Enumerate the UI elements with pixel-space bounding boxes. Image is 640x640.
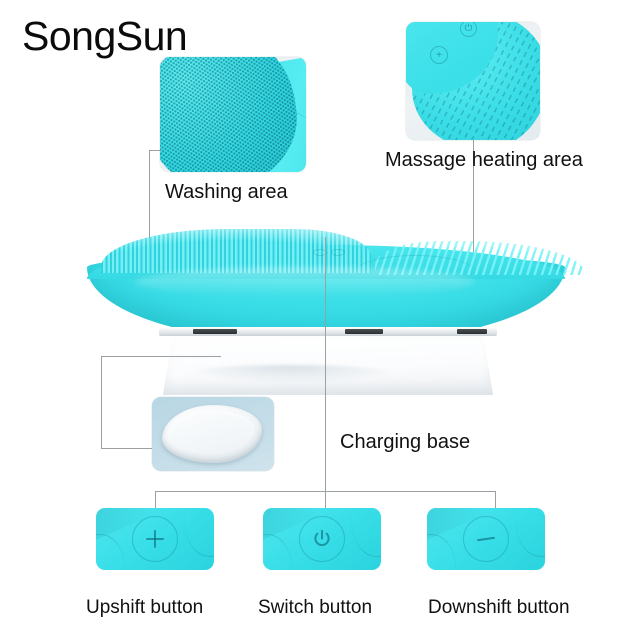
charging-base-label: Charging base: [340, 432, 470, 452]
wave-line-decor: [263, 529, 298, 570]
leader-line-base-bottom: [101, 448, 159, 449]
leader-line-washing-horizontal: [149, 150, 161, 151]
wave-line-decor: [179, 512, 214, 560]
charging-base-slot: [345, 329, 383, 334]
wave-line-decor: [96, 529, 131, 570]
massage-heating-area-label: Massage heating area: [385, 150, 583, 170]
washing-area-label: Washing area: [165, 182, 288, 202]
washing-area-thumbnail: ⏻ +: [160, 57, 306, 172]
upshift-button-label: Upshift button: [86, 598, 203, 617]
charging-base-thumbnail-image: [152, 397, 274, 471]
leader-line-buttons-stem: [325, 237, 326, 491]
switch-button-label: Switch button: [258, 598, 372, 617]
washing-area-thumbnail-image: ⏻ +: [160, 57, 306, 172]
switch-button-card[interactable]: [263, 508, 381, 570]
charging-pod-icon: [162, 405, 262, 463]
wave-line-decor: [346, 512, 381, 560]
brand-logo-text: SongSun: [22, 16, 187, 57]
downshift-button-card[interactable]: [427, 508, 545, 570]
silicone-dots-texture: [160, 57, 306, 172]
charging-base-thumbnail: [152, 397, 274, 471]
leader-line-upshift-drop: [155, 491, 156, 509]
charging-base-highlight: [185, 365, 395, 383]
leader-line-base-top: [101, 356, 221, 357]
minus-icon: [477, 530, 495, 548]
control-dot-icon: [331, 249, 345, 256]
body-gloss-highlight: [135, 267, 475, 297]
upshift-button-ring[interactable]: [132, 516, 178, 562]
infographic-canvas: SongSun ⏻ + Washing area + ⏻: [0, 0, 640, 640]
wave-line-decor: [427, 529, 462, 570]
leader-line-base-vertical: [101, 356, 102, 448]
plus-icon: [146, 530, 164, 548]
plus-icon-small: +: [430, 46, 448, 64]
switch-button-ring[interactable]: [299, 516, 345, 562]
power-icon: [311, 528, 333, 550]
downshift-button-label: Downshift button: [428, 598, 570, 617]
charging-base-body: [163, 333, 493, 395]
downshift-button-ring[interactable]: [463, 516, 509, 562]
massage-area-thumbnail-image: + ⏻: [406, 22, 540, 140]
brush-head-disc-icon: [160, 57, 306, 172]
power-icon-small: ⏻: [460, 22, 477, 37]
wave-line-decor: [510, 512, 545, 560]
leader-line-switch-drop: [325, 491, 326, 509]
leader-line-downshift-drop: [495, 491, 496, 509]
charging-base-slot: [193, 329, 237, 334]
charging-base-slot: [457, 329, 487, 334]
upshift-button-card[interactable]: [96, 508, 214, 570]
massage-heating-area-thumbnail: + ⏻: [406, 22, 540, 140]
